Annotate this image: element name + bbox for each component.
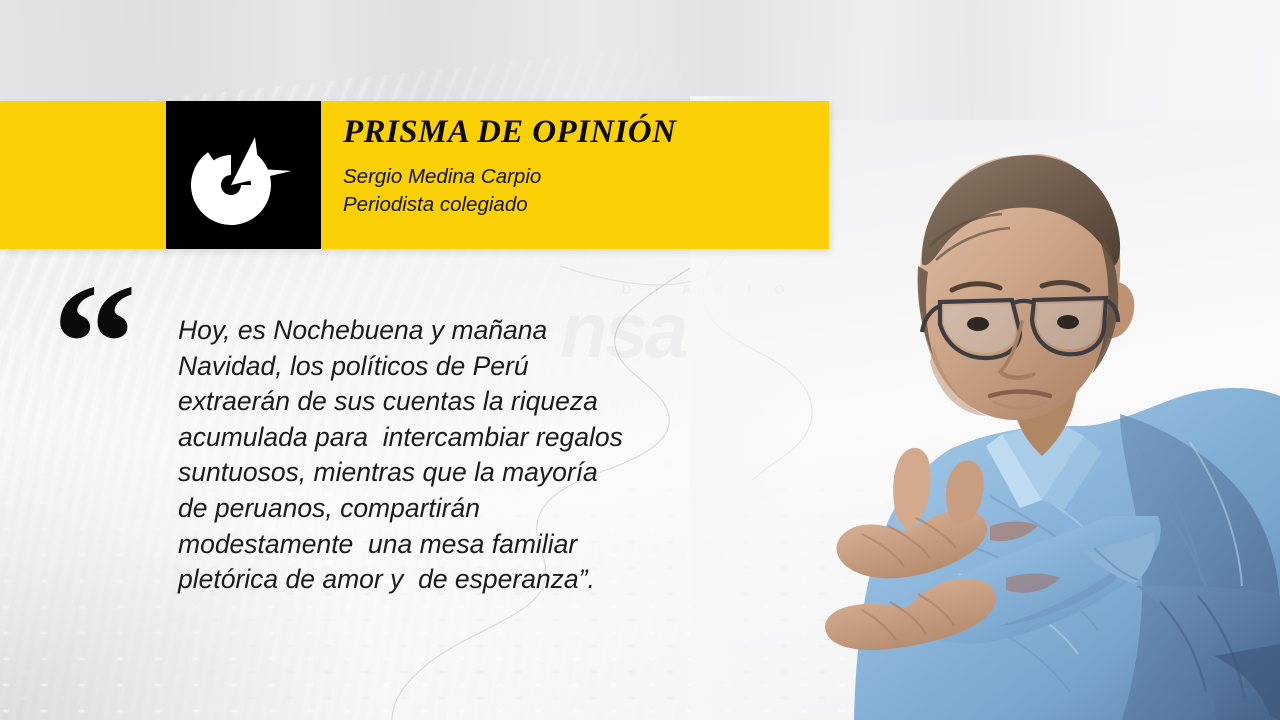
open-quote-icon: “ — [52, 258, 133, 428]
page-title: PRISMA DE OPINIÓN — [343, 115, 813, 150]
author-name: Sergio Medina Carpio — [343, 163, 813, 191]
author-role: Periodista colegiado — [343, 191, 813, 219]
banner-text-group: PRISMA DE OPINIÓN Sergio Medina Carpio P… — [343, 115, 813, 219]
quote-line: modestamente una mesa familiar — [178, 527, 708, 563]
opinion-column-graphic: D I A R I O nsa — [0, 0, 1280, 720]
quote-line: acumulada para intercambiar regalos — [178, 420, 708, 456]
author-block: Sergio Medina Carpio Periodista colegiad… — [343, 163, 813, 220]
prisma-circular-arrow-logo-icon — [185, 125, 303, 227]
banner-bar: PRISMA DE OPINIÓN Sergio Medina Carpio P… — [0, 101, 829, 249]
quote-line: pletórica de amor y de esperanza”. — [178, 562, 708, 598]
quote-text-block: Hoy, es Nochebuena y mañana Navidad, los… — [178, 313, 708, 598]
quote-line: suntuosos, mientras que la mayoría — [178, 455, 708, 491]
quote-line: Hoy, es Nochebuena y mañana — [178, 313, 708, 349]
quote-line: Navidad, los políticos de Perú — [178, 349, 708, 385]
logo-container — [166, 101, 321, 249]
quote-line: extraerán de sus cuentas la riqueza — [178, 384, 708, 420]
quote-line: de peruanos, compartirán — [178, 491, 708, 527]
